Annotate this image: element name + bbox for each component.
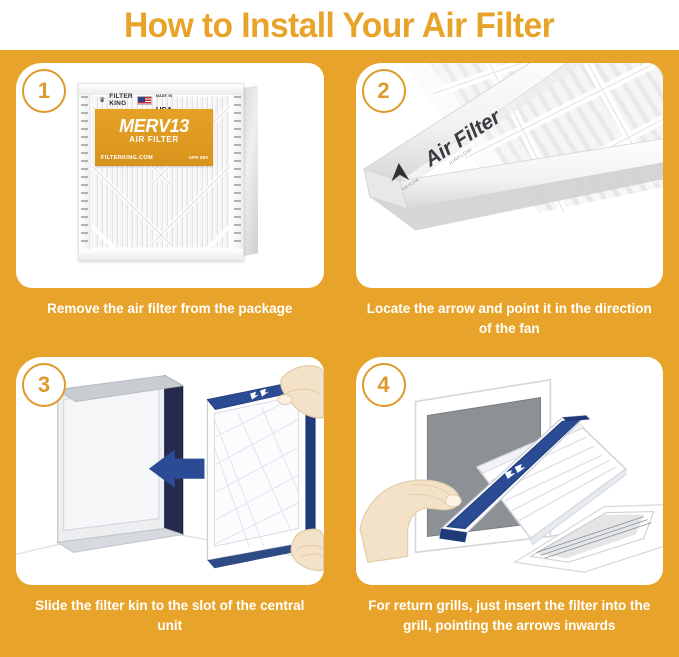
filter-label: ♛ FILTER KING <box>95 94 213 166</box>
step-number-badge-1: 1 <box>22 69 66 113</box>
step-number-badge-3: 3 <box>22 363 66 407</box>
us-flag-icon <box>137 96 152 105</box>
label-model: APR 850 <box>189 155 208 160</box>
filter-staples-right <box>234 96 241 248</box>
step-caption-1: Remove the air filter from the package <box>16 299 324 319</box>
step-caption-4: For return grills, just insert the filte… <box>356 596 664 635</box>
step-caption-3: Slide the filter kin to the slot of the … <box>16 596 324 635</box>
brand-row: ♛ FILTER KING <box>99 94 211 107</box>
step-1-image-card: ♛ FILTER KING <box>16 63 324 288</box>
step-3-image-card: 3 <box>16 357 324 585</box>
page-title: How to Install Your Air Filter <box>124 8 554 43</box>
label-subtitle: AIR FILTER <box>95 136 213 144</box>
step-card-1: ♛ FILTER KING <box>0 50 340 344</box>
merv-label-box: MERV13 AIR FILTER FILTERKING.COM APR 850 <box>95 109 213 166</box>
filter-staples-left <box>81 96 88 248</box>
step-card-3: 3 Slide the filter kin to the slot of th… <box>0 344 340 635</box>
step-number-badge-4: 4 <box>362 363 406 407</box>
step-card-2: Air Filter AIRFLOW AIR FLOW 2 Locate the… <box>340 50 679 344</box>
filter-frame-bottom <box>79 249 243 260</box>
page-header: How to Install Your Air Filter <box>0 0 679 50</box>
steps-grid: ♛ FILTER KING <box>0 50 679 635</box>
step-4-image-card: 4 <box>356 357 664 585</box>
step-number-badge-2: 2 <box>362 69 406 113</box>
label-website: FILTERKING.COM <box>101 155 153 161</box>
brand-name-line2: KING <box>109 100 126 107</box>
step-caption-2: Locate the arrow and point it in the dir… <box>356 299 664 338</box>
made-in-text: MADE IN <box>156 94 173 98</box>
step-2-image-card: Air Filter AIRFLOW AIR FLOW 2 <box>356 63 664 288</box>
crown-icon: ♛ <box>99 97 105 104</box>
merv-rating: MERV13 <box>95 117 213 135</box>
instruction-board: ♛ FILTER KING <box>0 50 679 657</box>
filter-front-face: ♛ FILTER KING <box>78 83 244 261</box>
left-hand <box>291 529 323 570</box>
step-card-4: 4 For return grills, just insert the fil… <box>340 344 679 635</box>
